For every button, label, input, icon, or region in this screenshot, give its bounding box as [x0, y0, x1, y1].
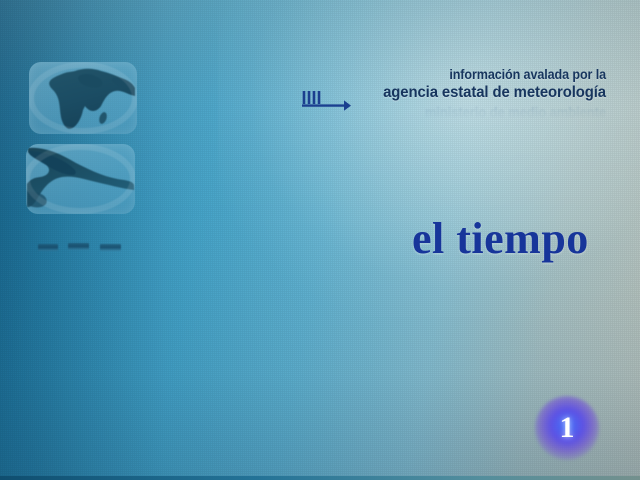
globe-panel-eastern-hemisphere	[29, 62, 137, 134]
endorsement-line-2: agencia estatal de meteorología	[374, 83, 607, 103]
endorsement-block: información avalada por la agencia estat…	[296, 66, 606, 134]
globe-panel-western-hemisphere	[26, 144, 135, 214]
endorsement-line-3: ministerio de medio ambiente	[374, 103, 607, 121]
channel-bug: 1	[543, 404, 591, 452]
tv-weather-title-card: información avalada por la agencia estat…	[0, 0, 640, 480]
aemet-bars-arrow-logo-icon	[300, 88, 352, 118]
channel-bug-number: 1	[543, 404, 591, 452]
endorsement-text: información avalada por la agencia estat…	[356, 66, 606, 121]
bottom-letterbox-bar	[0, 476, 640, 480]
globe-eastern-hemisphere-icon	[29, 62, 137, 134]
dash-mark-1	[38, 244, 58, 251]
endorsement-line-1: información avalada por la	[374, 66, 607, 83]
dash-mark-2	[68, 243, 89, 250]
dash-mark-3	[100, 244, 121, 251]
globe-western-hemisphere-icon	[26, 144, 135, 214]
page-title: el tiempo	[412, 214, 589, 264]
